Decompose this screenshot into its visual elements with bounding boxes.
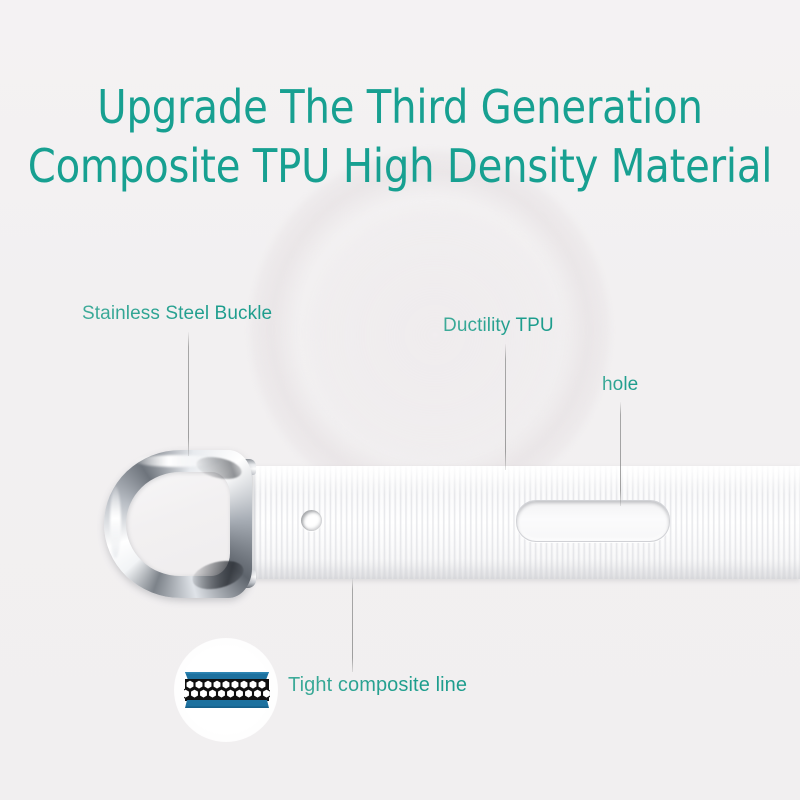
leader-line-tight	[352, 578, 353, 672]
callout-label-buckle: Stainless Steel Buckle	[82, 303, 272, 325]
round-hole	[301, 510, 322, 531]
title-line-2: Composite TPU High Density Material	[12, 137, 788, 196]
composite-layer-badge	[174, 638, 278, 742]
callout-label-hole: hole	[602, 374, 638, 396]
callout-label-tpu: Ductility TPU	[443, 315, 554, 337]
strap-shadow-bottom	[232, 559, 800, 579]
buckle-ring-inner	[126, 472, 230, 576]
callout-label-tight: Tight composite line	[288, 674, 467, 696]
leader-line-tpu	[505, 344, 506, 470]
composite-cross-section-icon	[182, 660, 272, 720]
leader-line-buckle	[188, 332, 189, 456]
page-title: Upgrade The Third Generation Composite T…	[12, 78, 788, 196]
infographic-canvas: Upgrade The Third Generation Composite T…	[0, 0, 800, 800]
title-line-1: Upgrade The Third Generation	[12, 78, 788, 137]
d-ring-buckle	[104, 450, 252, 598]
buckle-highlight-left	[110, 486, 121, 558]
slot-hole	[516, 500, 670, 542]
leader-line-hole	[620, 402, 621, 506]
strap-highlight-top	[232, 466, 800, 495]
